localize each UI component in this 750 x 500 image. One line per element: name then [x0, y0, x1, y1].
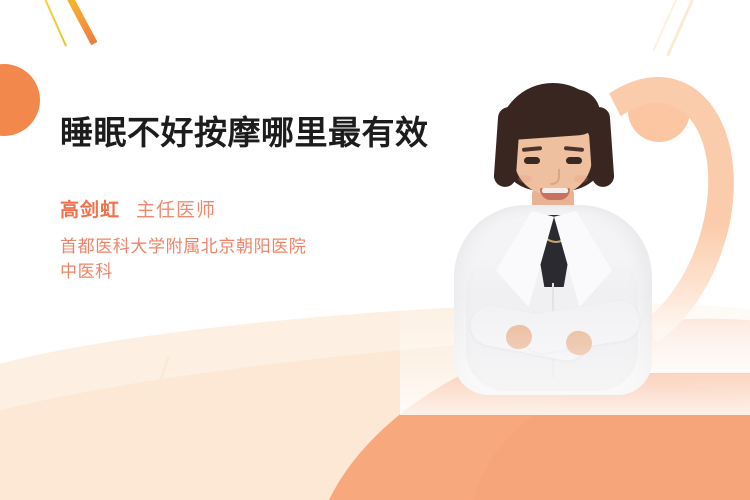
text-content-block: 睡眠不好按摩哪里最有效 高剑虹 主任医师 首都医科大学附属北京朝阳医院 中医科 — [60, 112, 440, 284]
doctor-byline: 高剑虹 主任医师 — [60, 195, 440, 222]
portrait-composition — [400, 45, 750, 405]
doctor-blush-right — [574, 175, 588, 183]
doctor-hair-bangs — [507, 88, 602, 140]
doctor-affiliation: 首都医科大学附属北京朝阳医院 中医科 — [60, 234, 440, 284]
orange-circle-decoration — [0, 64, 40, 136]
diagonal-stroke-faint-bottom-left — [154, 356, 170, 397]
doctor-article-banner: 睡眠不好按摩哪里最有效 高剑虹 主任医师 首都医科大学附属北京朝阳医院 中医科 — [0, 0, 750, 500]
doctor-teeth — [542, 188, 568, 193]
diagonal-stroke-thin-decoration — [40, 0, 67, 47]
doctor-professional-title: 主任医师 — [136, 195, 216, 222]
doctor-photo — [448, 55, 658, 385]
diagonal-stroke-thick-decoration — [64, 0, 97, 45]
doctor-hair-side-right — [587, 106, 615, 187]
doctor-eye-left — [524, 157, 540, 164]
doctor-affiliation-hospital: 首都医科大学附属北京朝阳医院 — [60, 234, 440, 259]
doctor-eye-right — [566, 157, 582, 164]
page-title: 睡眠不好按摩哪里最有效 — [60, 112, 440, 153]
diagonal-stroke-faint-top-right-b — [653, 0, 684, 51]
doctor-blush-left — [518, 175, 532, 183]
doctor-affiliation-department: 中医科 — [60, 259, 440, 284]
doctor-name: 高剑虹 — [60, 195, 120, 222]
